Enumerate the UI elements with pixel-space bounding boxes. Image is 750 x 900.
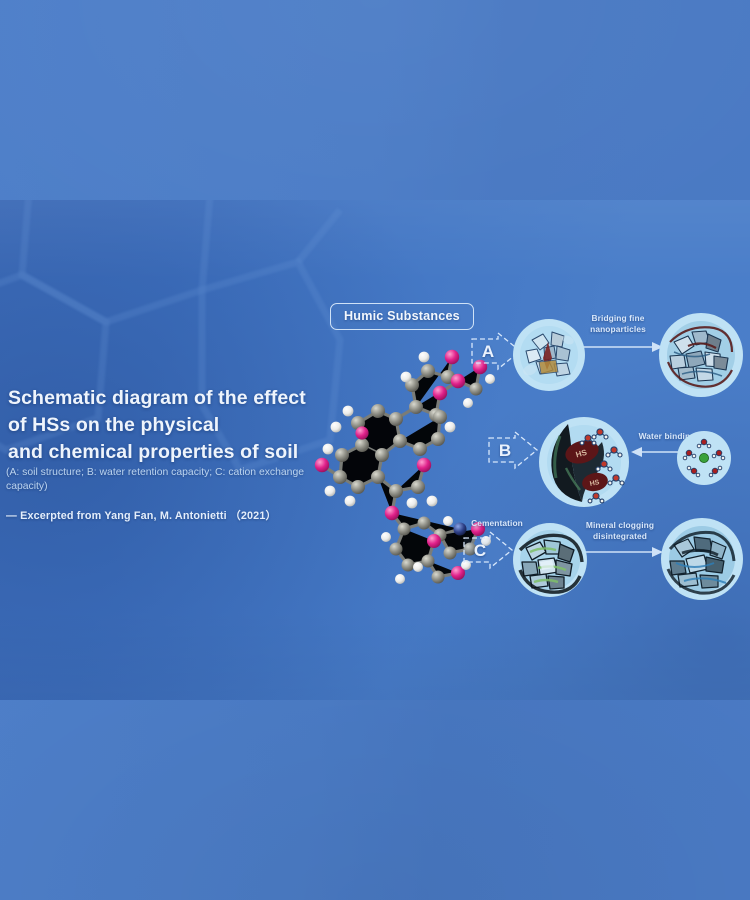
- key-letter-b: B: [493, 437, 517, 463]
- slide-band: Schematic diagram of the effect of HSs o…: [0, 200, 750, 700]
- source-credit: — Excerpted from Yang Fan, M. Antonietti…: [6, 507, 346, 523]
- key-letter-c: C: [468, 537, 492, 563]
- disc-hydrated-cation-cluster: [676, 430, 732, 486]
- disc-aggregated-soil-particles: [658, 312, 744, 398]
- flow-caption-a: Bridging fine nanoparticles: [572, 313, 664, 334]
- key-arrow-b: B: [487, 430, 539, 470]
- flow-caption-a-line1: Bridging fine: [572, 313, 664, 324]
- page-title: Schematic diagram of the effect of HSs o…: [8, 385, 338, 466]
- key-caption-c: Cementation: [462, 518, 532, 529]
- flow-caption-c-line1: Mineral clogging: [576, 520, 664, 531]
- flow-caption-c-line2: disintegrated: [576, 531, 664, 542]
- disc-disintegrated-mineral-aggregate: [660, 517, 744, 601]
- disc-humic-coated-mineral-with-water: HS HS: [538, 416, 630, 508]
- title-line-2: of HSs on the physical: [8, 412, 338, 439]
- title-line-3: and chemical properties of soil: [8, 439, 338, 466]
- key-letter-a: A: [476, 338, 500, 364]
- key-arrow-c: C: [462, 530, 514, 570]
- flow-caption-c: Mineral clogging disintegrated: [576, 520, 664, 541]
- slide-canvas: Schematic diagram of the effect of HSs o…: [0, 0, 750, 900]
- disc-cemented-mineral-aggregate: [512, 522, 588, 598]
- title-subnote: (A: soil structure; B: water retention c…: [6, 466, 346, 494]
- disc-loose-mineral-particles: [512, 318, 586, 392]
- title-line-1: Schematic diagram of the effect: [8, 385, 338, 412]
- flow-caption-a-line2: nanoparticles: [572, 324, 664, 335]
- key-caption-c-text: Cementation: [462, 518, 532, 529]
- flow-arrow-c: [576, 545, 664, 559]
